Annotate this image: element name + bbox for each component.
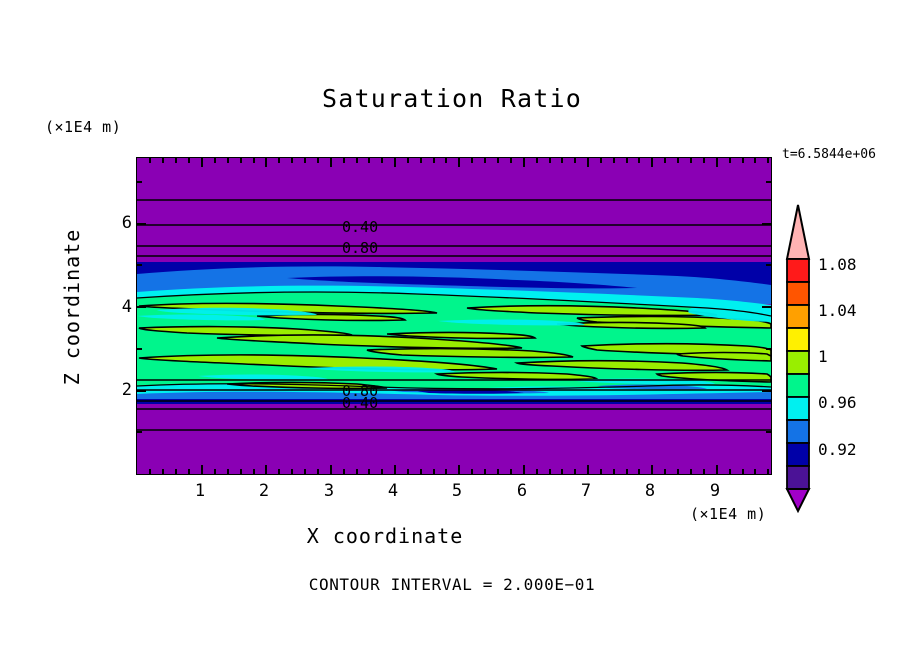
x-tick-label-3: 3 xyxy=(309,481,349,501)
colorbar-label-092: 0.92 xyxy=(818,440,857,459)
x-tick-label-4: 4 xyxy=(373,481,413,501)
x-tick-label-5: 5 xyxy=(437,481,477,501)
x-tick-label-1: 1 xyxy=(180,481,220,501)
x-axis-title: X coordinate xyxy=(0,524,770,548)
colorbar-label-1: 1 xyxy=(818,347,828,366)
colorbar-cap-bottom xyxy=(787,489,809,511)
y-axis-title: Z coordinate xyxy=(60,217,84,397)
colorbar[interactable] xyxy=(783,203,813,513)
x-tick-label-7: 7 xyxy=(566,481,606,501)
x-tick-label-9: 9 xyxy=(695,481,735,501)
contour-interval-caption: CONTOUR INTERVAL = 2.000E−01 xyxy=(0,575,904,594)
chart-title: Saturation Ratio xyxy=(0,84,904,113)
contour-plot-area: 0.40 0.80 0.80 0.40 xyxy=(136,157,772,475)
x-tick-label-6: 6 xyxy=(502,481,542,501)
colorbar-label-104: 1.04 xyxy=(818,301,857,320)
x-axis-units-label: (×1E4 m) xyxy=(690,505,766,523)
time-annotation: t=6.5844e+06 xyxy=(782,147,876,162)
y-tick-label-6: 6 xyxy=(92,213,132,233)
colorbar-label-096: 0.96 xyxy=(818,393,857,412)
colorbar-swatches xyxy=(783,203,813,513)
x-tick-label-2: 2 xyxy=(244,481,284,501)
y-axis-units-label: (×1E4 m) xyxy=(45,118,121,136)
y-tick-label-2: 2 xyxy=(92,380,132,400)
colorbar-cap-top xyxy=(787,205,809,259)
colorbar-label-108: 1.08 xyxy=(818,255,857,274)
x-tick-label-8: 8 xyxy=(630,481,670,501)
contour-field xyxy=(137,158,771,474)
y-tick-label-4: 4 xyxy=(92,297,132,317)
